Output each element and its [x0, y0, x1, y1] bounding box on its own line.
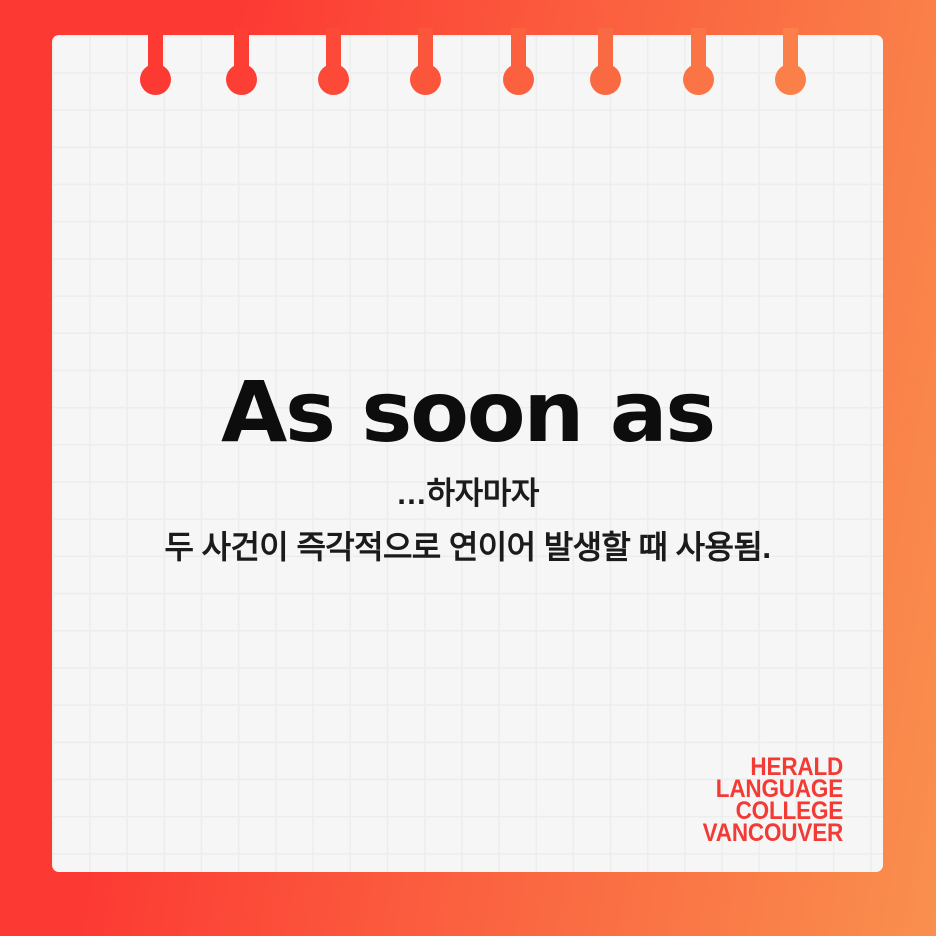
korean-usage-note: 두 사건이 즉각적으로 연이어 발생할 때 사용됨. [52, 527, 883, 569]
korean-translation: …하자마자 [52, 475, 883, 514]
flashcard-canvas: As soon as …하자마자 두 사건이 즉각적으로 연이어 발생할 때 사… [0, 0, 936, 936]
brand-lockup: HERALD LANGUAGE COLLEGE VANCOUVER [703, 756, 843, 844]
page-title: As soon as [52, 368, 883, 456]
card-content: As soon as …하자마자 두 사건이 즉각적으로 연이어 발생할 때 사… [52, 35, 883, 872]
notepad-sheet: As soon as …하자마자 두 사건이 즉각적으로 연이어 발생할 때 사… [52, 35, 883, 872]
brand-line-vancouver: VANCOUVER [703, 822, 843, 844]
